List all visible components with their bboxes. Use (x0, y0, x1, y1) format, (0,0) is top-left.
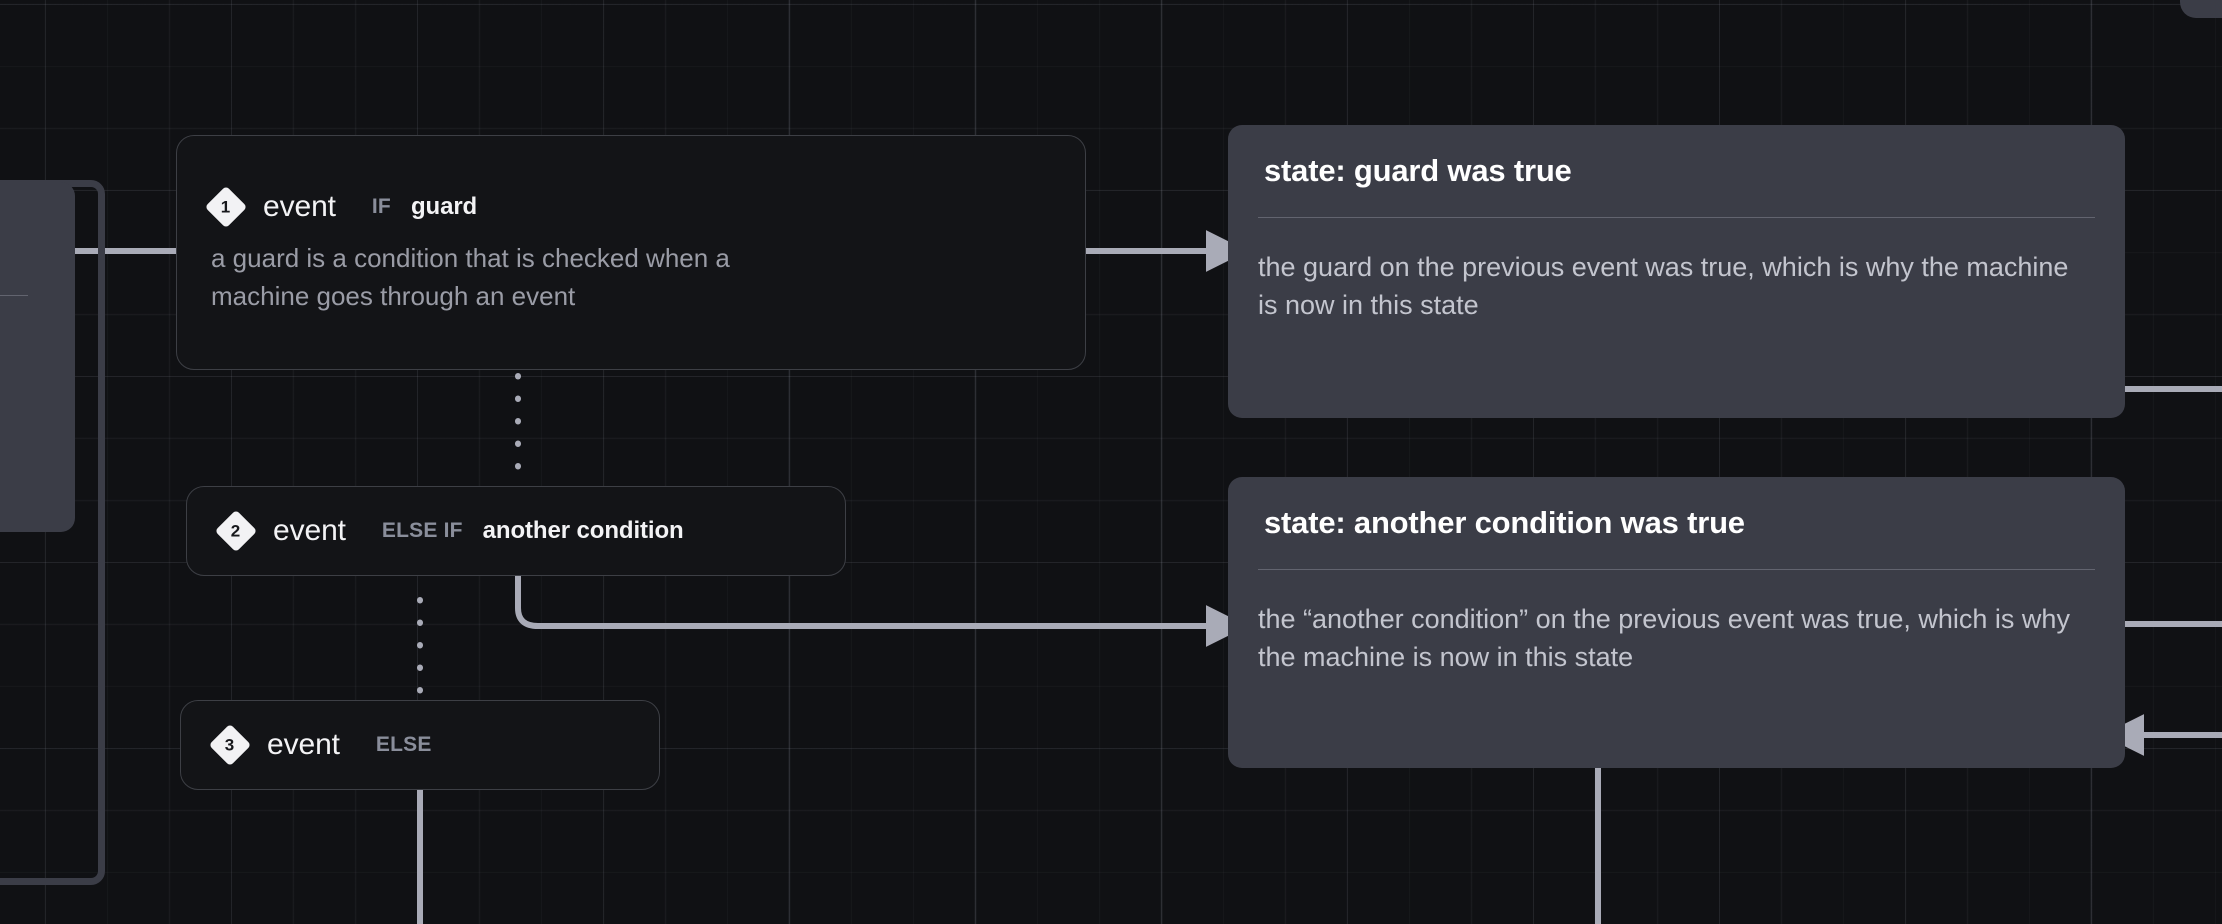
diagram-canvas[interactable]: 1 event IF guard a guard is a condition … (0, 0, 2222, 924)
event-2-header: 2 event ELSE IF another condition (187, 514, 845, 548)
event-1-name: event (263, 190, 336, 224)
event-1-badge-number: 1 (221, 198, 230, 215)
event-3-header: 3 event ELSE (181, 728, 659, 762)
event-1-header: 1 event IF guard (177, 190, 1085, 224)
event-1-description: a guard is a condition that is checked w… (177, 224, 837, 315)
state-1-body: the guard on the previous event was true… (1228, 218, 2125, 355)
event-3-badge-diamond-icon: 3 (209, 724, 251, 766)
event-2-name: event (273, 514, 346, 548)
event-2-condition: another condition (483, 517, 684, 545)
event-3-name: event (267, 728, 340, 762)
state-1-title: state: guard was true (1228, 125, 2125, 189)
event-3-badge-number: 3 (225, 737, 234, 754)
state-2-title: state: another condition was true (1228, 477, 2125, 541)
event-1-badge-diamond-icon: 1 (205, 186, 247, 228)
event-2-badge-number: 2 (231, 523, 240, 540)
partial-state-node-top-right[interactable] (2180, 0, 2222, 18)
event-1-condition: guard (411, 193, 477, 221)
event-2-badge-diamond-icon: 2 (215, 510, 257, 552)
state-2-body: the “another condition” on the previous … (1228, 570, 2125, 707)
event-node-2[interactable]: 2 event ELSE IF another condition (186, 486, 846, 576)
event-node-3[interactable]: 3 event ELSE (180, 700, 660, 790)
state-node-1[interactable]: state: guard was true the guard on the p… (1228, 125, 2125, 418)
event-2-keyword: ELSE IF (382, 519, 463, 543)
partial-state-divider (0, 295, 28, 296)
event-1-keyword: IF (372, 195, 391, 219)
event-3-keyword: ELSE (376, 733, 432, 757)
edge-event-2-to-state-2 (518, 575, 1210, 626)
event-node-1[interactable]: 1 event IF guard a guard is a condition … (176, 135, 1086, 370)
partial-state-node-left[interactable] (0, 182, 75, 532)
state-node-2[interactable]: state: another condition was true the “a… (1228, 477, 2125, 768)
